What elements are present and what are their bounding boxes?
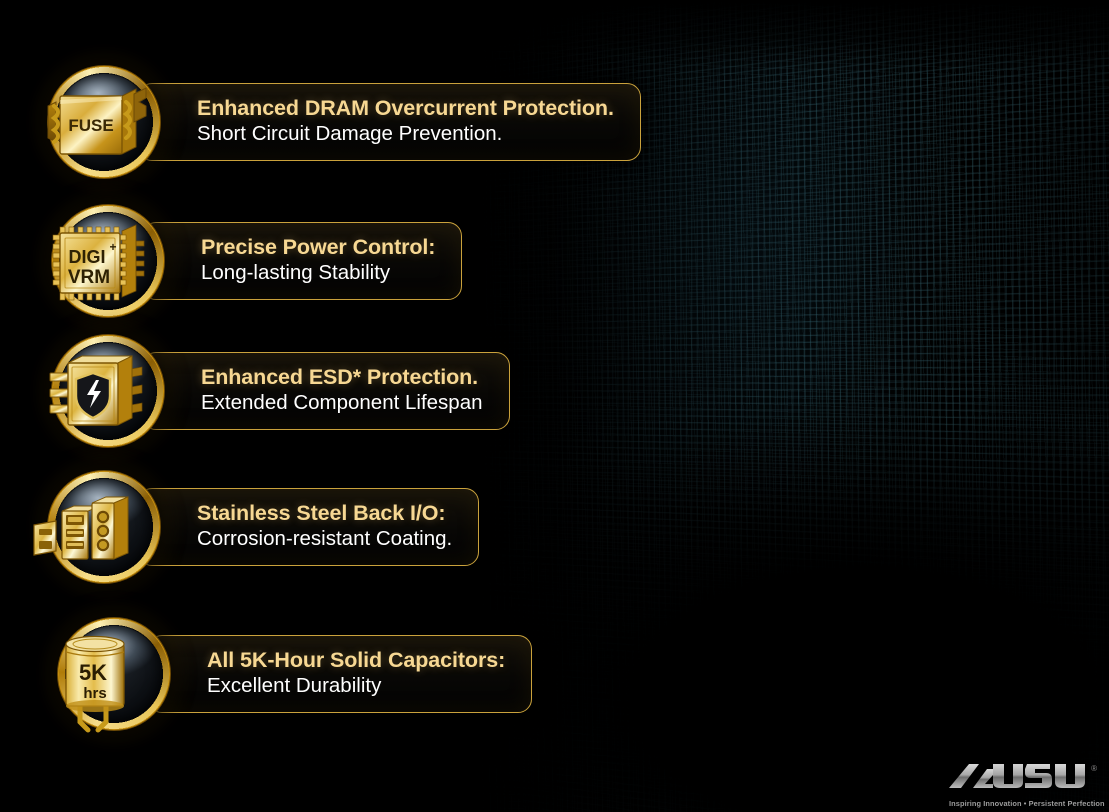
feature-row-stainless-steel-back-io[interactable]: Stainless Steel Back I/O: Corrosion-resi… <box>48 471 479 583</box>
vrm-icon-label: VRM <box>68 267 110 288</box>
feature-subtitle: Short Circuit Damage Prevention. <box>197 122 614 147</box>
digi-plus-icon-label: + <box>109 240 116 254</box>
back-io-panel-icon <box>48 471 160 583</box>
feature-title: All 5K-Hour Solid Capacitors: <box>207 648 505 673</box>
feature-subtitle: Excellent Durability <box>207 674 505 699</box>
fuse-chip-icon: FUSE <box>48 66 160 178</box>
feature-row-precise-power-control[interactable]: DIGI + VRM Precise Power Control: Long-l… <box>52 205 462 317</box>
asus-logo: ® Inspiring Innovation • Persistent Perf… <box>947 762 1103 810</box>
feature-row-solid-capacitors[interactable]: 5K hrs All 5K-Hour Solid Capacitors: Exc… <box>58 618 532 730</box>
feature-text-pill[interactable]: Precise Power Control: Long-lasting Stab… <box>142 222 462 300</box>
slide-canvas: FUSE Enhanced DRAM Overcurrent Protectio… <box>0 0 1109 812</box>
asus-tagline: Inspiring Innovation • Persistent Perfec… <box>949 799 1101 808</box>
feature-title: Enhanced ESD* Protection. <box>201 365 483 390</box>
feature-text-pill[interactable]: All 5K-Hour Solid Capacitors: Excellent … <box>148 635 532 713</box>
feature-title: Enhanced DRAM Overcurrent Protection. <box>197 96 614 121</box>
digi-plus-vrm-chip-icon: DIGI + VRM <box>52 205 164 317</box>
feature-subtitle: Extended Component Lifespan <box>201 391 483 416</box>
asus-wordmark-icon <box>947 762 1087 792</box>
feature-row-esd-protection[interactable]: Enhanced ESD* Protection. Extended Compo… <box>52 335 510 447</box>
solid-capacitor-icon: 5K hrs <box>58 618 170 730</box>
fuse-icon-label: FUSE <box>68 116 113 135</box>
capacitor-hours-label: 5K <box>79 660 107 685</box>
esd-shield-chip-icon <box>52 335 164 447</box>
feature-text-pill[interactable]: Stainless Steel Back I/O: Corrosion-resi… <box>138 488 479 566</box>
feature-row-dram-overcurrent-protection[interactable]: FUSE Enhanced DRAM Overcurrent Protectio… <box>48 66 641 178</box>
registered-trademark-mark: ® <box>1091 764 1097 773</box>
feature-title: Stainless Steel Back I/O: <box>197 501 452 526</box>
feature-list: FUSE Enhanced DRAM Overcurrent Protectio… <box>0 0 1109 812</box>
feature-text-pill[interactable]: Enhanced ESD* Protection. Extended Compo… <box>142 352 510 430</box>
feature-subtitle: Corrosion-resistant Coating. <box>197 527 452 552</box>
feature-title: Precise Power Control: <box>201 235 435 260</box>
capacitor-hours-unit-label: hrs <box>83 685 106 702</box>
feature-subtitle: Long-lasting Stability <box>201 261 435 286</box>
digi-icon-label: DIGI <box>68 247 105 267</box>
feature-text-pill[interactable]: Enhanced DRAM Overcurrent Protection. Sh… <box>138 83 641 161</box>
